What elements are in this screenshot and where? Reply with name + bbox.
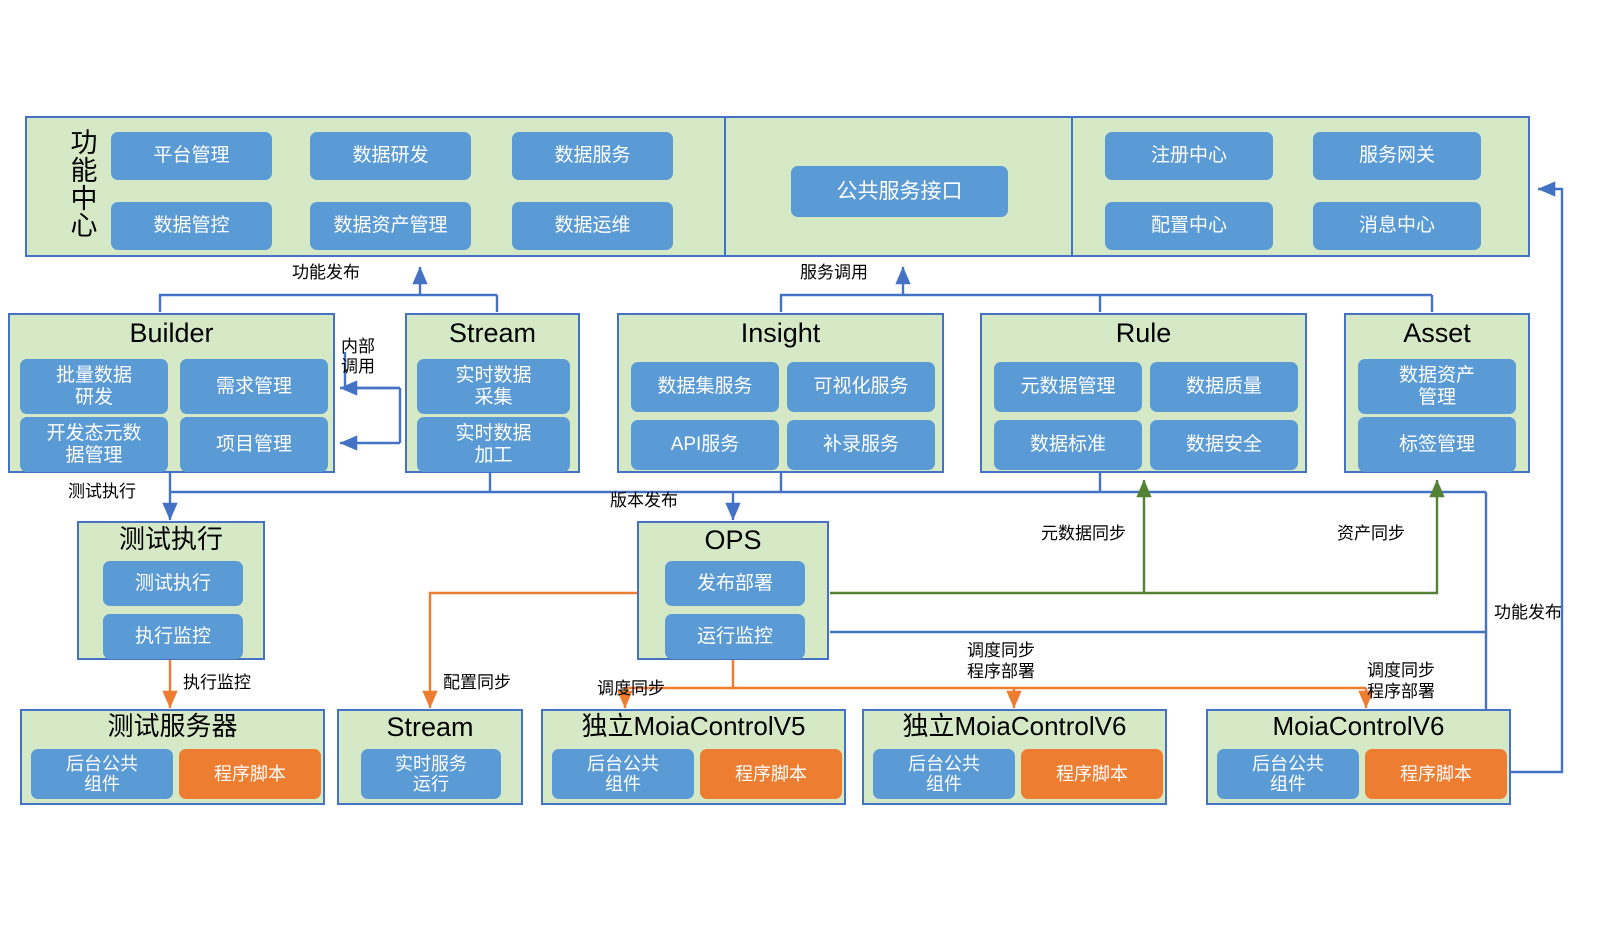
edge-label-sched-deploy-right: 调度同步 程序部署 [1367, 660, 1435, 703]
chip-release-deploy[interactable]: 发布部署 [665, 561, 805, 606]
server-moia-v6-title: MoiaControlV6 [1208, 713, 1509, 740]
module-builder: Builder 批量数据 研发 需求管理 开发态元数 据管理 项目管理 [8, 313, 335, 473]
module-rule: Rule 元数据管理 数据质量 数据标准 数据安全 [980, 313, 1307, 473]
module-test-exec-title: 测试执行 [79, 526, 263, 553]
chip-service-gateway[interactable]: 服务网关 [1313, 132, 1481, 180]
chip-config-center[interactable]: 配置中心 [1105, 202, 1273, 250]
chip-backend-common-1[interactable]: 后台公共 组件 [31, 749, 173, 799]
edge-label-exec-monitor: 执行监控 [183, 672, 251, 693]
chip-backend-common-3[interactable]: 后台公共 组件 [873, 749, 1015, 799]
module-asset: Asset 数据资产 管理 标签管理 [1344, 313, 1530, 473]
edge-label-asset-sync: 资产同步 [1337, 523, 1405, 544]
module-rule-title: Rule [982, 319, 1305, 347]
server-moia-v6-independent: 独立MoiaControlV6 后台公共 组件 程序脚本 [862, 709, 1167, 805]
module-builder-title: Builder [10, 319, 333, 347]
module-insight-title: Insight [619, 319, 942, 347]
chip-data-control[interactable]: 数据管控 [111, 202, 272, 250]
chip-data-standard[interactable]: 数据标准 [994, 420, 1142, 470]
edge-label-meta-sync: 元数据同步 [1041, 523, 1126, 544]
chip-runtime-monitor[interactable]: 运行监控 [665, 614, 805, 659]
module-insight: Insight 数据集服务 可视化服务 API服务 补录服务 [617, 313, 944, 473]
chip-batch-data-dev[interactable]: 批量数据 研发 [20, 359, 168, 414]
chip-backend-common-2[interactable]: 后台公共 组件 [552, 749, 694, 799]
edge-label-internal-call: 内部 调用 [341, 337, 375, 376]
chip-demand-mgmt[interactable]: 需求管理 [180, 359, 328, 414]
chip-data-quality[interactable]: 数据质量 [1150, 362, 1298, 412]
chip-data-asset-management[interactable]: 数据资产 管理 [1358, 359, 1516, 414]
band-divider-2 [1071, 118, 1073, 255]
edge-label-version-release: 版本发布 [610, 490, 678, 511]
chip-data-security[interactable]: 数据安全 [1150, 420, 1298, 470]
chip-supplement-service[interactable]: 补录服务 [787, 420, 935, 470]
chip-project-mgmt[interactable]: 项目管理 [180, 417, 328, 472]
edge-label-func-publish-right: 功能发布 [1494, 602, 1562, 623]
function-center-band: 功能中心 平台管理 数据研发 数据服务 数据管控 数据资产管理 数据运维 公共服… [25, 116, 1530, 257]
chip-data-ops[interactable]: 数据运维 [512, 202, 673, 250]
server-stream-title: Stream [339, 713, 521, 741]
chip-tag-mgmt[interactable]: 标签管理 [1358, 417, 1516, 472]
chip-exec-monitor[interactable]: 执行监控 [103, 614, 243, 659]
module-stream-title: Stream [407, 319, 578, 347]
edge-label-service-call: 服务调用 [800, 262, 868, 283]
server-stream: Stream 实时服务 运行 [337, 709, 523, 805]
chip-visualization-service[interactable]: 可视化服务 [787, 362, 935, 412]
architecture-diagram: 功能中心 平台管理 数据研发 数据服务 数据管控 数据资产管理 数据运维 公共服… [0, 0, 1611, 940]
module-stream: Stream 实时数据 采集 实时数据 加工 [405, 313, 580, 473]
chip-platform-mgmt[interactable]: 平台管理 [111, 132, 272, 180]
chip-program-script-2[interactable]: 程序脚本 [700, 749, 842, 799]
chip-data-dev[interactable]: 数据研发 [310, 132, 471, 180]
chip-message-center[interactable]: 消息中心 [1313, 202, 1481, 250]
band-divider-1 [724, 118, 726, 255]
server-test-server: 测试服务器 后台公共 组件 程序脚本 [20, 709, 325, 805]
edge-label-func-publish-top: 功能发布 [292, 262, 360, 283]
chip-public-service-api[interactable]: 公共服务接口 [791, 166, 1008, 217]
module-ops-title: OPS [639, 526, 827, 554]
server-test-server-title: 测试服务器 [22, 713, 323, 740]
function-center-label: 功能中心 [61, 130, 107, 248]
module-test-exec: 测试执行 测试执行 执行监控 [77, 521, 265, 660]
module-asset-title: Asset [1346, 319, 1528, 347]
chip-metadata-mgmt[interactable]: 元数据管理 [994, 362, 1142, 412]
chip-test-execute[interactable]: 测试执行 [103, 561, 243, 606]
edge-label-sched-deploy-mid: 调度同步 程序部署 [967, 640, 1035, 683]
chip-realtime-collect[interactable]: 实时数据 采集 [417, 359, 570, 414]
module-ops: OPS 发布部署 运行监控 [637, 521, 829, 660]
edge-label-test-exec: 测试执行 [68, 481, 136, 502]
chip-data-asset-mgmt[interactable]: 数据资产管理 [310, 202, 471, 250]
chip-backend-common-4[interactable]: 后台公共 组件 [1217, 749, 1359, 799]
chip-data-service[interactable]: 数据服务 [512, 132, 673, 180]
chip-realtime-service-run[interactable]: 实时服务 运行 [361, 749, 501, 799]
server-moia-v5-title: 独立MoiaControlV5 [543, 713, 844, 740]
chip-dataset-service[interactable]: 数据集服务 [631, 362, 779, 412]
server-moia-v6-independent-title: 独立MoiaControlV6 [864, 713, 1165, 740]
server-moia-v5: 独立MoiaControlV5 后台公共 组件 程序脚本 [541, 709, 846, 805]
chip-program-script-4[interactable]: 程序脚本 [1365, 749, 1507, 799]
chip-registry-center[interactable]: 注册中心 [1105, 132, 1273, 180]
edge-label-sched-sync: 调度同步 [597, 678, 665, 699]
server-moia-v6: MoiaControlV6 后台公共 组件 程序脚本 [1206, 709, 1511, 805]
chip-program-script-1[interactable]: 程序脚本 [179, 749, 321, 799]
chip-dev-metadata-mgmt[interactable]: 开发态元数 据管理 [20, 417, 168, 472]
chip-program-script-3[interactable]: 程序脚本 [1021, 749, 1163, 799]
edge-label-config-sync: 配置同步 [443, 672, 511, 693]
chip-api-service[interactable]: API服务 [631, 420, 779, 470]
chip-realtime-process[interactable]: 实时数据 加工 [417, 417, 570, 472]
